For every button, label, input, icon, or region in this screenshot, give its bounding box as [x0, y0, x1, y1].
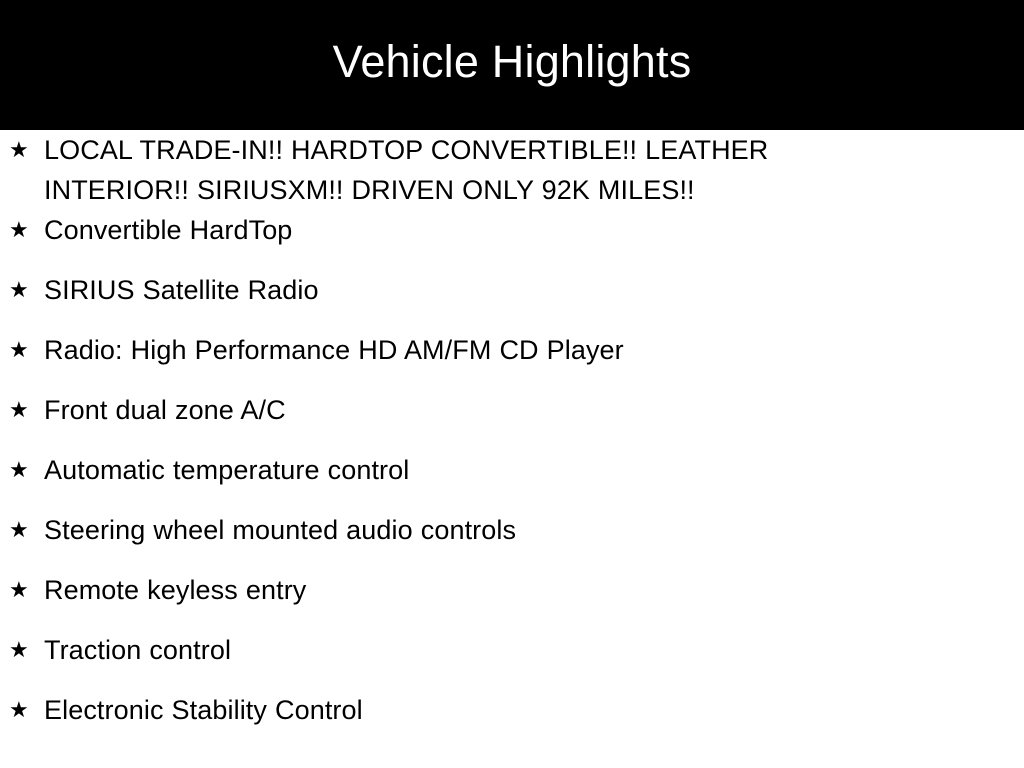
list-item-label: Steering wheel mounted audio controls — [44, 510, 1000, 550]
star-bullet-icon: ★ — [9, 390, 33, 430]
list-item: ★ LOCAL TRADE-IN!! HARDTOP CONVERTIBLE!!… — [0, 130, 1024, 210]
list-item: ★ Convertible HardTop — [0, 210, 1024, 270]
page-title: Vehicle Highlights — [0, 31, 1024, 93]
page-title-band: Vehicle Highlights — [0, 0, 1024, 130]
list-item: ★ Remote keyless entry — [0, 570, 1024, 630]
list-item: ★ Automatic temperature control — [0, 450, 1024, 510]
list-item-label: Electronic Stability Control — [44, 690, 1000, 730]
list-item-label: LOCAL TRADE-IN!! HARDTOP CONVERTIBLE!! L… — [44, 130, 854, 210]
list-item: ★ Radio: High Performance HD AM/FM CD Pl… — [0, 330, 1024, 390]
vehicle-highlights-list: ★ LOCAL TRADE-IN!! HARDTOP CONVERTIBLE!!… — [0, 130, 1024, 750]
star-bullet-icon: ★ — [9, 270, 33, 310]
list-item: ★ SIRIUS Satellite Radio — [0, 270, 1024, 330]
list-item-label: Remote keyless entry — [44, 570, 1000, 610]
star-bullet-icon: ★ — [9, 450, 33, 490]
list-item: ★ Front dual zone A/C — [0, 390, 1024, 450]
list-item-label: SIRIUS Satellite Radio — [44, 270, 1000, 310]
list-item-label: Front dual zone A/C — [44, 390, 1000, 430]
list-item-label: Convertible HardTop — [44, 210, 1000, 250]
star-bullet-icon: ★ — [9, 210, 33, 250]
list-item-label: Automatic temperature control — [44, 450, 1000, 490]
list-item: ★ Electronic Stability Control — [0, 690, 1024, 750]
list-item: ★ Traction control — [0, 630, 1024, 690]
star-bullet-icon: ★ — [9, 570, 33, 610]
star-bullet-icon: ★ — [9, 130, 33, 170]
list-item-label: Traction control — [44, 630, 1000, 670]
star-bullet-icon: ★ — [9, 690, 33, 730]
star-bullet-icon: ★ — [9, 510, 33, 550]
vehicle-highlights-page: Vehicle Highlights ★ LOCAL TRADE-IN!! HA… — [0, 0, 1024, 768]
list-item-label: Radio: High Performance HD AM/FM CD Play… — [44, 330, 1000, 370]
star-bullet-icon: ★ — [9, 330, 33, 370]
list-item: ★ Steering wheel mounted audio controls — [0, 510, 1024, 570]
star-bullet-icon: ★ — [9, 630, 33, 670]
